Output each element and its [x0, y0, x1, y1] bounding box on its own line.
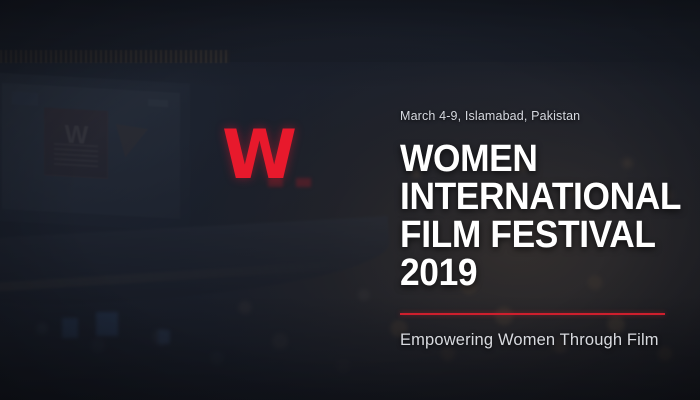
festival-title-line-2: INTERNATIONAL	[400, 178, 660, 216]
festival-tagline: Empowering Women Through Film	[400, 330, 680, 351]
festival-title-line-1: WOMEN	[400, 140, 660, 178]
festival-title-line-3: FILM FESTIVAL	[400, 216, 660, 254]
poster-content: W March 4-9, Islamabad, Pakistan WOMEN I…	[0, 0, 700, 400]
festival-w-monogram-icon: W	[222, 124, 294, 188]
festival-title: WOMEN INTERNATIONAL FILM FESTIVAL 2019	[400, 140, 680, 292]
festival-promo-banner: W W March 4-9, Islamabad, Pakistan WOMEN…	[0, 0, 700, 400]
red-divider-rule	[400, 313, 665, 315]
festival-title-line-4: 2019	[400, 254, 660, 292]
event-date-location: March 4-9, Islamabad, Pakistan	[400, 108, 680, 124]
poster-text-block: March 4-9, Islamabad, Pakistan WOMEN INT…	[400, 108, 680, 351]
